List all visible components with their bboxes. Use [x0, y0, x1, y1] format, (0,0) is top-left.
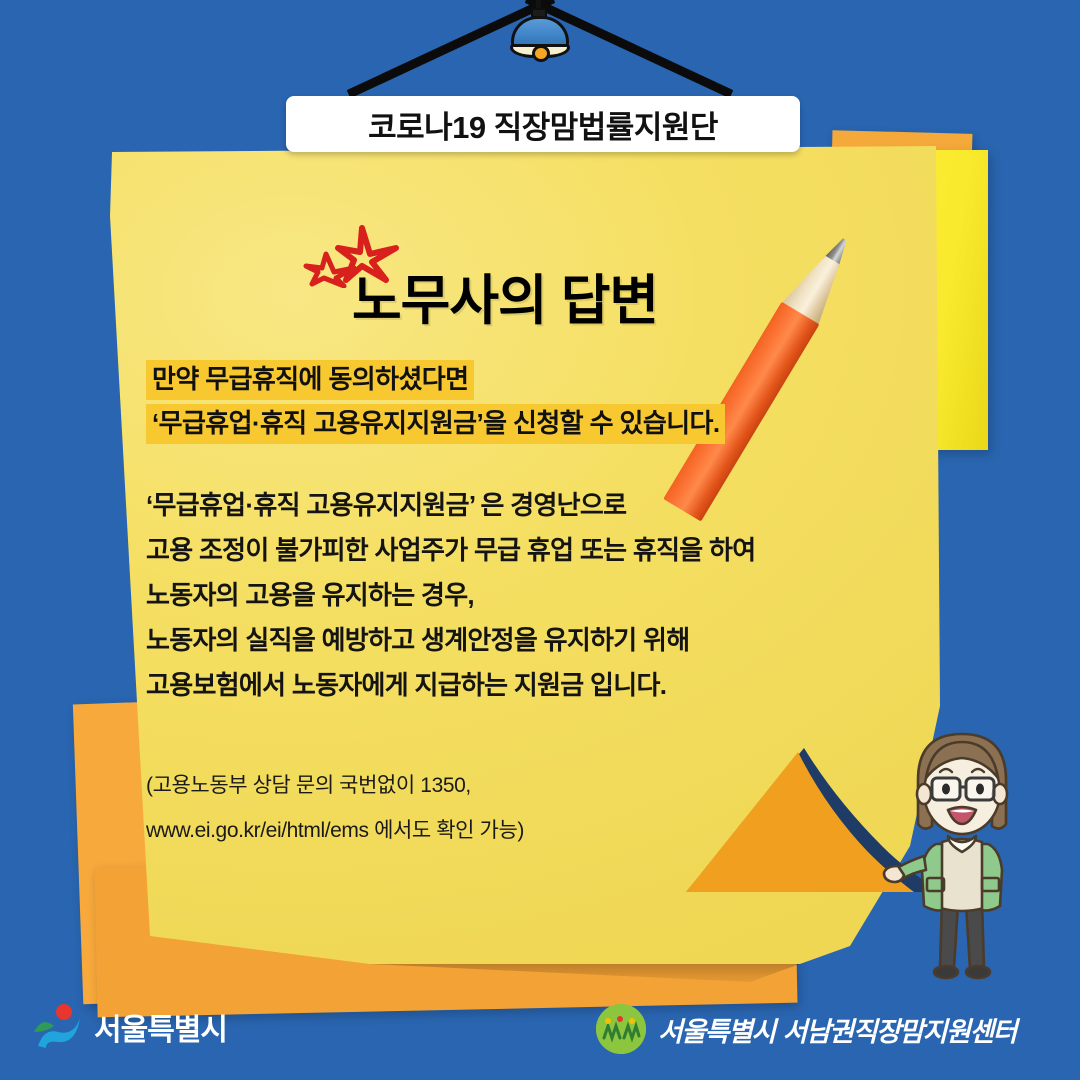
card-canvas: 코로나19 직장맘법률지원단 노무사의 답변 만약 무급휴직에 동의하셨다면 ‘… [0, 0, 1080, 1080]
seoul-city-logo: 서울특별시 [32, 1002, 227, 1052]
body-line-3: 노동자의 고용을 유지하는 경우, [146, 582, 946, 608]
highlight-line-1: 만약 무급휴직에 동의하셨다면 [146, 360, 474, 400]
body-line-2: 고용 조정이 불가피한 사업주가 무급 휴업 또는 휴직을 하여 [146, 537, 946, 563]
working-mom-center-circle-icon [596, 1004, 646, 1054]
woman-with-glasses-waving-icon [880, 720, 1040, 1000]
body-line-1: ‘무급휴업·휴직 고용유지지원금’ 은 경영난으로 [146, 492, 946, 518]
body-line-4: 노동자의 실직을 예방하고 생계안정을 유지하기 위해 [146, 627, 946, 653]
footnote-line-2: www.ei.go.kr/ei/html/ems 에서도 확인 가능) [146, 820, 766, 841]
working-mom-center-logo: 서울특별시 서남권직장맘지원센터 [596, 1004, 1016, 1054]
header-banner: 코로나19 직장맘법률지원단 [286, 96, 800, 152]
working-mom-center-label: 서울특별시 서남권직장맘지원센터 [658, 1010, 1016, 1049]
highlight-block: 만약 무급휴직에 동의하셨다면 ‘무급휴업·휴직 고용유지지원금’을 신청할 수… [146, 360, 906, 448]
page-title: 노무사의 답변 [352, 256, 658, 335]
body-block: ‘무급휴업·휴직 고용유지지원금’ 은 경영난으로 고용 조정이 불가피한 사업… [146, 492, 946, 717]
footnote-line-1: (고용노동부 상담 문의 국번없이 1350, [146, 775, 766, 796]
highlight-line-2: ‘무급휴업·휴직 고용유지지원금’을 신청할 수 있습니다. [146, 404, 725, 444]
footnote-block: (고용노동부 상담 문의 국번없이 1350, www.ei.go.kr/ei/… [146, 775, 766, 865]
seoul-city-brand-icon [32, 1002, 84, 1052]
footer-bar: 서울특별시 서울특별시 서남권직장맘지원센터 [0, 996, 1080, 1080]
header-banner-label: 코로나19 직장맘법률지원단 [368, 102, 718, 147]
seoul-city-logo-label: 서울특별시 [94, 1005, 227, 1049]
body-line-5: 고용보험에서 노동자에게 지급하는 지원금 입니다. [146, 672, 946, 698]
